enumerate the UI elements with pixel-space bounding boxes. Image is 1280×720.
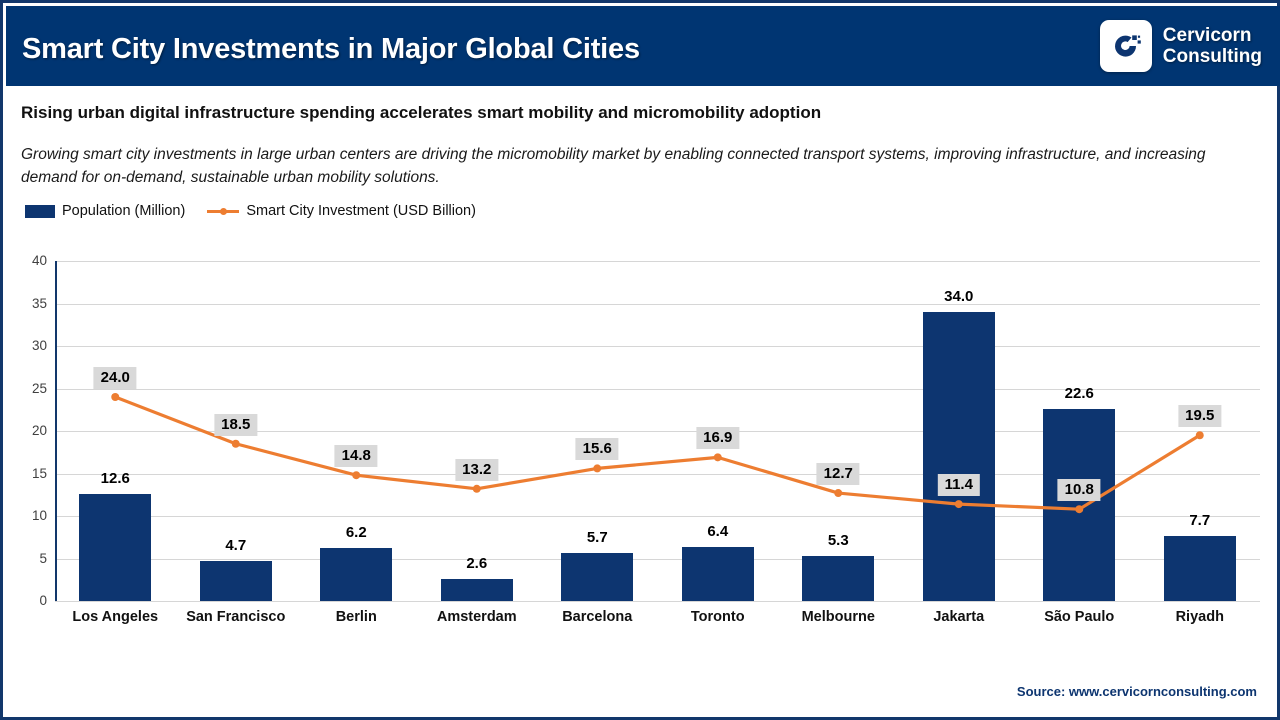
y-axis-tick-label: 10 xyxy=(13,508,47,523)
line-point[interactable] xyxy=(1196,431,1204,439)
x-axis-tick-label: Riyadh xyxy=(1140,609,1261,625)
line-value-label: 11.4 xyxy=(938,474,980,496)
line-point[interactable] xyxy=(593,464,601,472)
x-axis-tick-label: Berlin xyxy=(296,609,417,625)
line-value-label: 16.9 xyxy=(696,427,739,449)
line-value-label: 12.7 xyxy=(817,463,860,485)
legend-swatch-bar-icon xyxy=(25,205,55,218)
line-value-label: 10.8 xyxy=(1058,479,1101,501)
chart-legend: Population (Million) Smart City Investme… xyxy=(25,203,476,219)
chart-description: Growing smart city investments in large … xyxy=(21,143,1265,190)
line-point[interactable] xyxy=(834,489,842,497)
x-axis-tick-label: Barcelona xyxy=(537,609,658,625)
x-axis-tick-label: San Francisco xyxy=(176,609,297,625)
line-value-label: 13.2 xyxy=(455,459,498,481)
legend-item-investment[interactable]: Smart City Investment (USD Billion) xyxy=(207,203,476,219)
chart-canvas: Smart City Investments in Major Global C… xyxy=(0,0,1280,720)
line-point[interactable] xyxy=(955,500,963,508)
line-value-label: 24.0 xyxy=(94,367,137,389)
line-path xyxy=(115,397,1200,509)
page-header: Smart City Investments in Major Global C… xyxy=(6,6,1280,86)
y-axis-tick-label: 5 xyxy=(13,551,47,566)
x-axis-tick-label: Toronto xyxy=(658,609,779,625)
line-point[interactable] xyxy=(473,485,481,493)
line-point[interactable] xyxy=(352,471,360,479)
line-point[interactable] xyxy=(232,440,240,448)
y-axis-tick-label: 15 xyxy=(13,466,47,481)
line-value-label: 18.5 xyxy=(214,414,257,436)
x-axis-tick-label: Amsterdam xyxy=(417,609,538,625)
gridline xyxy=(55,601,1260,602)
y-axis-tick-label: 0 xyxy=(13,593,47,608)
y-axis-tick-label: 20 xyxy=(13,423,47,438)
line-point[interactable] xyxy=(714,453,722,461)
line-point[interactable] xyxy=(1075,505,1083,513)
y-axis-tick-label: 40 xyxy=(13,253,47,268)
y-axis-tick-label: 25 xyxy=(13,381,47,396)
brand-name: Cervicorn Consulting xyxy=(1163,25,1262,68)
y-axis-tick-label: 35 xyxy=(13,296,47,311)
y-axis-tick-label: 30 xyxy=(13,338,47,353)
line-point[interactable] xyxy=(111,393,119,401)
cervicorn-logo-icon xyxy=(1100,20,1152,72)
x-axis-tick-label: Jakarta xyxy=(899,609,1020,625)
legend-swatch-line-icon xyxy=(207,205,239,217)
x-axis-tick-label: Melbourne xyxy=(778,609,899,625)
legend-item-population[interactable]: Population (Million) xyxy=(25,203,185,219)
line-value-label: 15.6 xyxy=(576,438,619,460)
line-value-label: 19.5 xyxy=(1178,405,1221,427)
page-title: Smart City Investments in Major Global C… xyxy=(22,33,640,66)
plot-area: 0510152025303540 12.64.76.22.65.76.45.33… xyxy=(55,261,1260,601)
legend-label-investment: Smart City Investment (USD Billion) xyxy=(246,203,476,219)
brand-name-line2: Consulting xyxy=(1163,46,1262,67)
chart-subtitle: Rising urban digital infrastructure spen… xyxy=(21,103,821,123)
legend-label-population: Population (Million) xyxy=(62,203,185,219)
source-note: Source: www.cervicornconsulting.com xyxy=(1017,684,1257,699)
brand-name-line1: Cervicorn xyxy=(1163,25,1262,46)
x-axis-tick-label: São Paulo xyxy=(1019,609,1140,625)
line-value-label: 14.8 xyxy=(335,445,378,467)
brand-logo: Cervicorn Consulting xyxy=(1100,20,1262,72)
x-axis-tick-label: Los Angeles xyxy=(55,609,176,625)
